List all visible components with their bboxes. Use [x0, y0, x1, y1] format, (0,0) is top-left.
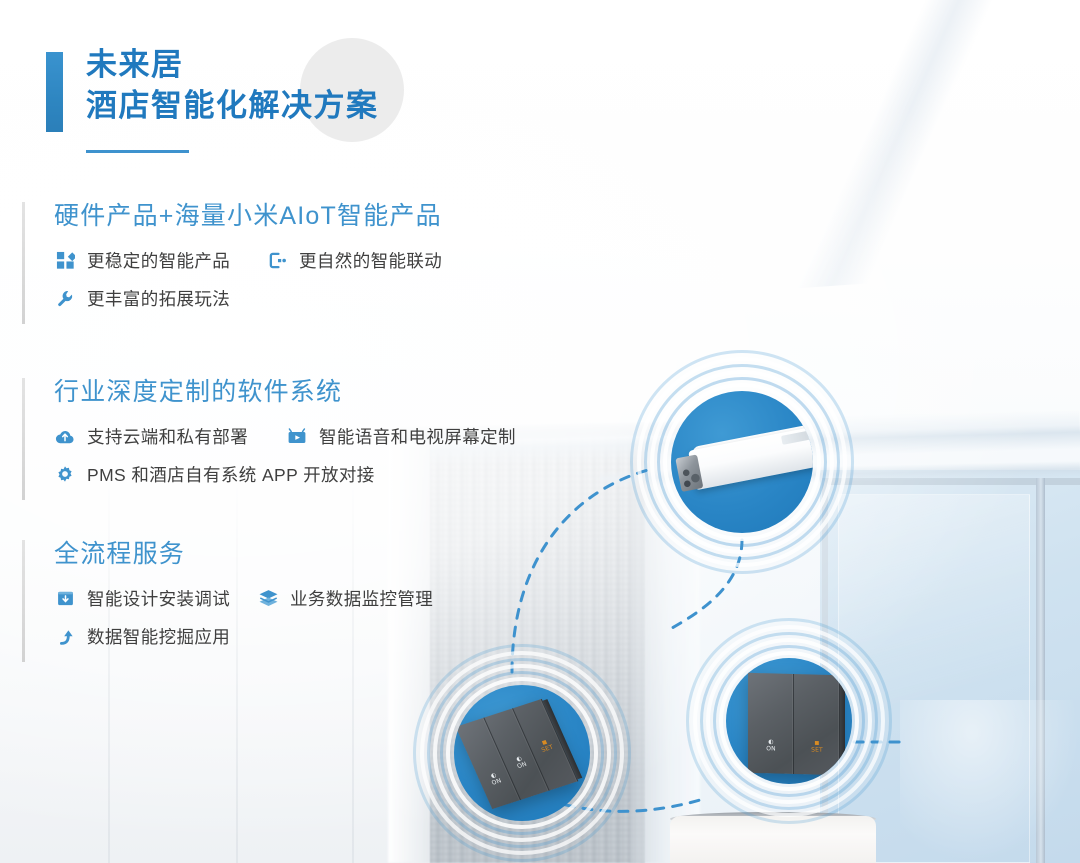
bullet-label: 更自然的智能联动	[299, 248, 442, 273]
section-service: 全流程服务 智能设计安装调试	[22, 534, 433, 662]
smart-curtain-motor-device	[674, 425, 813, 495]
title-accent-bar	[46, 52, 63, 132]
bullet-row: 更丰富的拓展玩法	[54, 286, 442, 311]
bullet-label: 业务数据监控管理	[290, 586, 433, 611]
bullet-row: 支持云端和私有部署 智能语音和电视屏幕定制	[54, 424, 516, 449]
section-bullet-list: 更稳定的智能产品 更自然的智能联动	[54, 248, 442, 311]
section-heading: 全流程服务	[54, 534, 433, 570]
bullet-row: 更稳定的智能产品 更自然的智能联动	[54, 248, 442, 273]
bullet-item[interactable]: 智能设计安装调试	[54, 586, 257, 611]
section-hardware: 硬件产品+海量小米AIoT智能产品 更稳定的智能产品	[22, 196, 442, 324]
bullet-label: 更丰富的拓展玩法	[87, 286, 230, 311]
bullet-item[interactable]: 智能语音和电视屏幕定制	[286, 424, 516, 449]
bullet-item[interactable]: 更稳定的智能产品	[54, 248, 266, 273]
product-node-switch-2gang[interactable]: ◐ON ◼SET	[686, 618, 892, 824]
grid-blocks-icon	[54, 250, 76, 272]
section-heading: 行业深度定制的软件系统	[54, 372, 516, 408]
bullet-label: 数据智能挖掘应用	[87, 624, 230, 649]
page-title-line2: 酒店智能化解决方案	[86, 85, 379, 126]
bullet-label: 智能设计安装调试	[87, 586, 230, 611]
section-spine	[22, 378, 25, 500]
bullet-item[interactable]: PMS 和酒店自有系统 APP 开放对接	[54, 462, 375, 487]
poster-title-block: 未来居 酒店智能化解决方案	[46, 44, 379, 126]
cloud-upload-icon	[54, 426, 76, 448]
smart-switch-2gang-device: ◐ON ◼SET	[748, 673, 840, 775]
bullet-row: 数据智能挖掘应用	[54, 624, 433, 649]
bullet-label: 更稳定的智能产品	[87, 248, 230, 273]
section-spine	[22, 540, 25, 662]
bullet-row: PMS 和酒店自有系统 APP 开放对接	[54, 462, 516, 487]
section-software: 行业深度定制的软件系统 支持云端和私有部署	[22, 372, 516, 500]
bullet-label: 支持云端和私有部署	[87, 424, 248, 449]
bullet-item[interactable]: 更丰富的拓展玩法	[54, 286, 230, 311]
wrench-icon	[54, 288, 76, 310]
bullet-item[interactable]: 支持云端和私有部署	[54, 424, 286, 449]
product-node-curtain-motor[interactable]	[630, 350, 854, 574]
tv-play-icon	[286, 426, 308, 448]
link-node-icon	[266, 250, 288, 272]
poster-root: ◐ON ◐ON ◼SET ◐ON ◼SET	[0, 0, 1080, 863]
bullet-label: PMS 和酒店自有系统 APP 开放对接	[87, 462, 375, 487]
gear-icon	[54, 464, 76, 486]
bullet-label: 智能语音和电视屏幕定制	[319, 424, 516, 449]
bullet-item[interactable]: 业务数据监控管理	[257, 586, 433, 611]
section-bullet-list: 智能设计安装调试 业务数据监控管理	[54, 586, 433, 649]
bullet-item[interactable]: 更自然的智能联动	[266, 248, 442, 273]
arrow-curve-up-icon	[54, 626, 76, 648]
content-column: 未来居 酒店智能化解决方案 硬件产品+海量小米AIoT智能产品	[0, 0, 620, 863]
page-title-line1: 未来居	[86, 44, 379, 85]
section-spine	[22, 202, 25, 324]
section-heading: 硬件产品+海量小米AIoT智能产品	[54, 196, 442, 232]
section-bullet-list: 支持云端和私有部署 智能语音和电视屏幕定制	[54, 424, 516, 487]
layers-icon	[257, 588, 279, 610]
product-disc-switch2: ◐ON ◼SET	[726, 658, 852, 784]
download-box-icon	[54, 588, 76, 610]
title-underline	[86, 150, 189, 153]
bullet-item[interactable]: 数据智能挖掘应用	[54, 624, 230, 649]
bullet-row: 智能设计安装调试 业务数据监控管理	[54, 586, 433, 611]
product-disc-motor	[671, 391, 813, 533]
